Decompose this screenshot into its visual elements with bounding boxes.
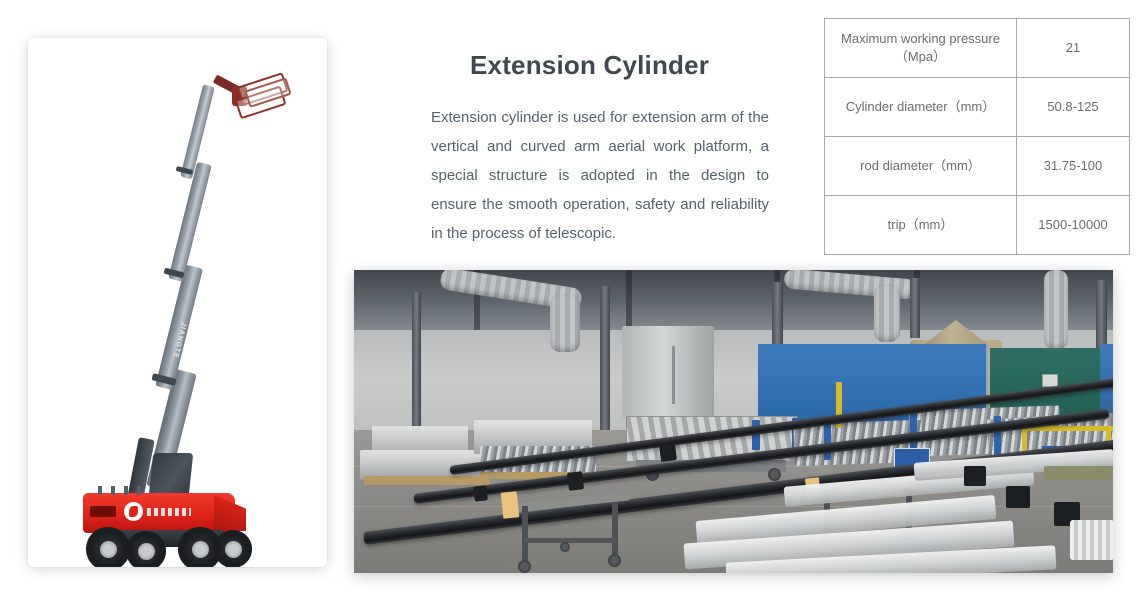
- duct-drop: [874, 284, 900, 342]
- wrapped-bundle-end: [1070, 520, 1113, 560]
- page-title: Extension Cylinder: [470, 50, 709, 81]
- wheel-hub: [138, 543, 155, 560]
- duct-drop: [550, 294, 580, 352]
- support-column: [910, 278, 920, 338]
- cart-leg: [612, 502, 618, 558]
- brand-logo-icon: [124, 502, 143, 521]
- cart-pad: [1044, 466, 1113, 480]
- spec-value: 31.75-100: [1017, 137, 1130, 196]
- table-row: Cylinder diameter（mm） 50.8-125: [825, 78, 1130, 137]
- caster-wheel: [768, 468, 781, 481]
- wall-sign: [1042, 374, 1058, 387]
- protective-tape: [501, 491, 520, 519]
- cylinder-clevis: [964, 466, 986, 486]
- caster-wheel: [560, 542, 570, 552]
- work-platform-basket: [228, 70, 293, 123]
- caster-wheel: [608, 554, 621, 567]
- floor-seam: [354, 506, 1113, 507]
- spec-value: 1500-10000: [1017, 196, 1130, 255]
- spec-value: 21: [1017, 19, 1130, 78]
- product-description: Extension cylinder is used for extension…: [431, 103, 769, 248]
- equipment-cabinet: [622, 326, 714, 418]
- wheel-front-left: [86, 527, 130, 567]
- support-column: [600, 286, 610, 446]
- spec-label: Maximum working pressure（Mpa）: [825, 19, 1017, 78]
- support-column: [412, 292, 421, 442]
- wheel-front-right: [126, 531, 166, 567]
- table-row: trip（mm） 1500-10000: [825, 196, 1130, 255]
- specification-table: Maximum working pressure（Mpa） 21 Cylinde…: [824, 18, 1130, 255]
- duct-drop: [1044, 270, 1068, 350]
- cylinder-clevis: [1006, 486, 1030, 508]
- chassis-valve-caps: [98, 486, 144, 495]
- boom-lift-illustration: JIANGTE: [28, 38, 327, 567]
- factory-workshop-photo: [354, 270, 1113, 573]
- cabinet-seam: [672, 346, 675, 404]
- wheel-hub: [100, 541, 117, 558]
- chassis-brand-wordmark: [147, 508, 191, 516]
- spec-label: rod diameter（mm）: [825, 137, 1017, 196]
- spec-label: Cylinder diameter（mm）: [825, 78, 1017, 137]
- pallet: [364, 476, 490, 485]
- wheel-hub: [192, 541, 209, 558]
- table-row: Maximum working pressure（Mpa） 21: [825, 19, 1130, 78]
- cart-leg: [522, 506, 528, 564]
- cart-cross-brace: [524, 538, 616, 543]
- tube-fitting: [567, 471, 584, 491]
- product-image-card: JIANGTE: [28, 38, 327, 567]
- chassis-panel: [90, 506, 116, 517]
- tube-fitting: [473, 485, 488, 501]
- wheel-rear-right: [214, 530, 252, 567]
- tube-fitting: [659, 443, 677, 462]
- ground-shadow: [80, 566, 260, 567]
- spec-label: trip（mm）: [825, 196, 1017, 255]
- table-row: rod diameter（mm） 31.75-100: [825, 137, 1130, 196]
- wheel-hub: [225, 541, 242, 558]
- caster-wheel: [518, 560, 531, 573]
- spec-value: 50.8-125: [1017, 78, 1130, 137]
- boom-section-3: [168, 162, 212, 282]
